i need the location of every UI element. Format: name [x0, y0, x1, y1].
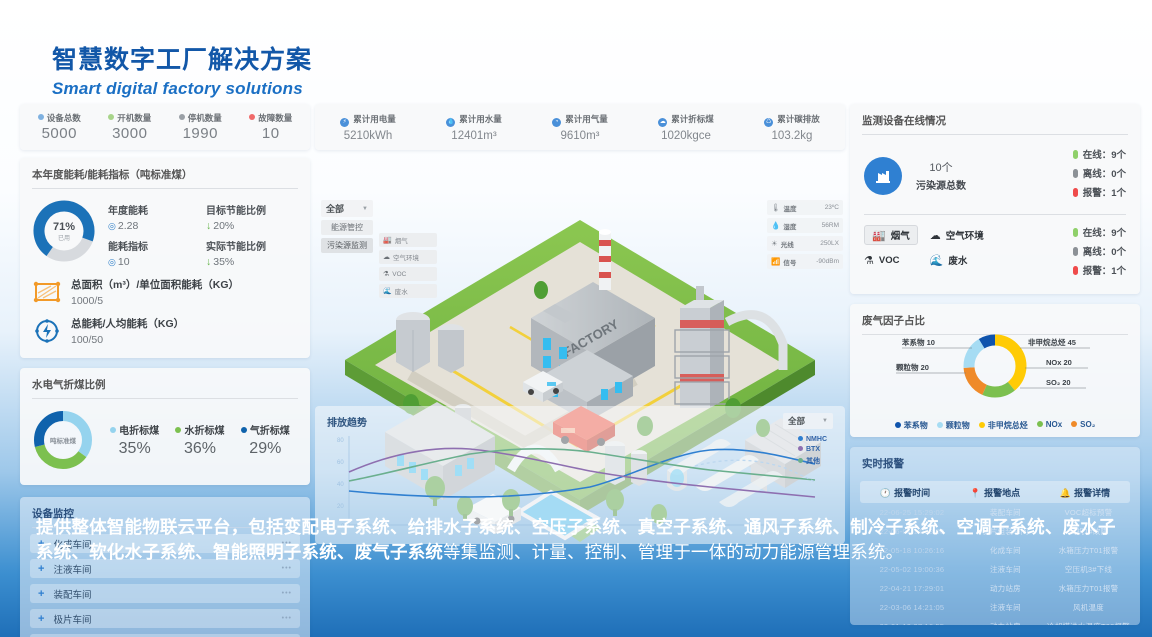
meter-icon: ◎ — [108, 257, 116, 267]
column-header-detail: 🔔报警详情 — [1040, 486, 1130, 499]
energy-item-target-saving: 目标节能比例 ↓20% — [206, 202, 298, 232]
kpi-fault-devices: 故障数量 10 — [236, 112, 307, 142]
energy-item-value: 35% — [213, 256, 234, 268]
status-pill — [1073, 228, 1078, 237]
water-icon: 💧 — [446, 118, 455, 127]
legend-label: 非甲烷总烃 — [988, 421, 1028, 430]
metric-total-area: 总面积（m³）/单位面积能耗（KG） 1000/5 — [20, 268, 310, 307]
down-arrow-icon: ↓ — [206, 256, 211, 268]
kpi-value: 5000 — [24, 125, 95, 142]
status-label: 在线：9个 — [1083, 150, 1126, 161]
ratio-item-electricity: 电折标煤 35% — [110, 422, 159, 458]
kpi-label: 设备总数 — [47, 113, 81, 123]
metric-label: 总面积（m³）/单位面积能耗（KG） — [71, 277, 239, 292]
overlay-caption: 提供整体智能物联云平台，包括变配电子系统、给排水子系统、空压子系统、真空子系统、… — [36, 515, 1126, 565]
legend-label: 其他 — [806, 458, 820, 465]
ratio-label: 水折标煤 — [184, 426, 224, 437]
filter-option-energy[interactable]: 能源管控 — [321, 220, 373, 235]
status-stats-top: 在线：9个 离线：0个 报警：1个 — [1073, 147, 1126, 204]
bolt-icon: ⚡ — [340, 118, 349, 127]
meter-icon: ◎ — [108, 221, 116, 231]
ratio-item-gas: 气折标煤 29% — [241, 422, 290, 458]
chevron-down-icon: ▼ — [362, 206, 368, 212]
expand-icon[interactable]: + — [38, 588, 44, 600]
sensor-value: -90dBm — [816, 258, 839, 265]
kpi-value: 3000 — [95, 125, 166, 142]
monitoring-online-card: 监测设备在线情况 10个 污染源总数 在线：9个 离线：0个 报警：1个 — [850, 104, 1140, 294]
column-label: 报警详情 — [1074, 488, 1110, 498]
metric-label: 总能耗/人均能耗（KG） — [71, 316, 184, 331]
status-stats-bottom: 在线：9个 离线：0个 报警：1个 — [1073, 225, 1126, 282]
kpi-total-devices: 设备总数 5000 — [24, 112, 95, 142]
legend-item-other: 其他 — [798, 456, 827, 466]
expand-icon[interactable]: + — [38, 613, 44, 625]
callout-benzene: 苯系物 10 — [901, 337, 935, 347]
acc-label: 累计用水量 — [459, 114, 502, 124]
gauge-percent: 71% — [53, 221, 75, 233]
submenu-label: VOC — [392, 271, 406, 278]
energy-gauge: 71% 已用 — [32, 199, 96, 263]
sensor-readouts: 🌡温度23ºC 💧湿度56RM ☀光线250LX 📶信号-90dBm — [767, 200, 843, 272]
sensor-value: 56RM — [822, 222, 839, 229]
status-alarm: 报警：1个 — [1073, 263, 1126, 277]
annual-energy-card: 本年度能耗/能耗指标（吨标准煤） 71% 已用 年度能耗 ◎2.28 — [20, 158, 310, 358]
list-item[interactable]: +极片车间••• — [30, 609, 300, 628]
acc-value: 12401m³ — [421, 130, 527, 142]
cloud-icon: ☁ — [930, 229, 941, 242]
kpi-value: 1990 — [165, 125, 236, 142]
trend-legend: NMHC BTX 其他 — [798, 436, 827, 469]
sensor-label: 湿度 — [783, 221, 821, 231]
ratio-value: 36% — [175, 440, 224, 458]
down-arrow-icon: ↓ — [206, 220, 211, 232]
card-title: 实时报警 — [850, 447, 1140, 477]
legend-label: 苯系物 — [904, 421, 928, 430]
legend-dot — [937, 422, 943, 428]
pollution-total-number: 10个 — [916, 159, 966, 175]
kpi-label: 故障数量 — [258, 113, 292, 123]
status-label: 报警：1个 — [1083, 188, 1126, 199]
energy-icon — [32, 316, 62, 346]
legend-label: NOx — [1046, 420, 1062, 429]
legend-item-particulate: 颗粒物 — [937, 420, 970, 431]
submenu-label: 废水 — [395, 286, 408, 296]
legend-dot — [241, 427, 247, 433]
carbon-icon: ♺ — [764, 118, 773, 127]
acc-carbon: ♺累计碳排放 103.2kg — [739, 113, 845, 142]
sensor-label: 信号 — [783, 257, 816, 267]
accumulator-strip: ⚡累计用电量 5210kWh 💧累计用水量 12401m³ ◔累计用气量 961… — [315, 104, 845, 150]
legend-dot — [1071, 421, 1077, 427]
card-title: 排放趋势 — [327, 414, 367, 429]
acc-label: 累计用电量 — [353, 114, 396, 124]
acc-electricity: ⚡累计用电量 5210kWh — [315, 113, 421, 142]
filter-option-pollution[interactable]: 污染源监测 — [321, 238, 373, 253]
alarm-table-header: 🕐报警时间 📍报警地点 🔔报警详情 — [860, 481, 1130, 503]
ratio-donut: 吨标准煤 — [32, 409, 94, 471]
sensor-temperature: 🌡温度23ºC — [767, 200, 843, 215]
pollution-total-label: 污染源总数 — [916, 177, 966, 192]
card-title: 本年度能耗/能耗指标（吨标准煤） — [20, 158, 310, 188]
svg-text:60: 60 — [337, 460, 344, 466]
alarm-time: 22-01-19 07:16:55 — [860, 622, 964, 625]
metric-total-energy: 总能耗/人均能耗（KG） 100/50 — [20, 307, 310, 346]
legend-label: BTX — [806, 446, 820, 453]
kpi-label: 开机数量 — [117, 113, 151, 123]
legend-label: NMHC — [806, 436, 827, 443]
sensor-humidity: 💧湿度56RM — [767, 218, 843, 233]
acc-gas: ◔累计用气量 9610m³ — [527, 113, 633, 142]
filter-select[interactable]: 全部 ▼ — [321, 200, 373, 217]
alarm-time: 22-03-06 14:21:05 — [860, 603, 964, 612]
filter-submenu: 🏭烟气 ☁空气环境 ⚗VOC 🌊废水 — [379, 233, 437, 301]
energy-item-label: 实际节能比例 — [206, 238, 298, 253]
alarm-time: 22-04-21 17:29:01 — [860, 584, 964, 593]
kpi-dot — [108, 114, 114, 120]
sensor-label: 光线 — [781, 239, 820, 249]
legend-dot — [895, 422, 901, 428]
tag-label: 废水 — [948, 253, 967, 267]
submenu-item-wastewater[interactable]: 🌊废水 — [379, 284, 437, 298]
acc-water: 💧累计用水量 12401m³ — [421, 113, 527, 142]
filter-selected-value: 全部 — [326, 202, 344, 215]
gas-icon: ◔ — [552, 118, 561, 127]
sensor-value: 250LX — [820, 240, 839, 247]
device-name: 装配车间 — [53, 587, 281, 601]
ratio-label: 气折标煤 — [250, 426, 290, 437]
legend-item-btx: BTX — [798, 446, 827, 453]
voc-icon: ⚗ — [864, 254, 874, 267]
column-header-place: 📍报警地点 — [950, 486, 1040, 499]
acc-value: 9610m³ — [527, 130, 633, 142]
status-offline: 离线：0个 — [1073, 244, 1126, 258]
table-row[interactable]: 22-03-06 14:21:05注液车间风机温度 — [860, 598, 1130, 617]
chevron-down-icon: ▼ — [822, 418, 828, 424]
submenu-item-air[interactable]: ☁空气环境 — [379, 250, 437, 264]
column-label: 报警时间 — [894, 488, 930, 498]
status-pill — [1073, 150, 1078, 159]
sensor-signal: 📶信号-90dBm — [767, 254, 843, 269]
scene-filter: 全部 ▼ 能源管控 污染源监测 🏭烟气 ☁空气环境 ⚗VOC 🌊废水 — [321, 200, 373, 253]
legend-label: 颗粒物 — [946, 421, 970, 430]
metric-value: 1000/5 — [71, 295, 239, 307]
ratio-value: 29% — [241, 440, 290, 458]
legend-dot — [798, 446, 803, 451]
column-label: 报警地点 — [984, 488, 1020, 498]
submenu-label: 空气环境 — [393, 252, 419, 262]
light-icon: ☀ — [771, 239, 778, 248]
page-title: 智慧数字工厂解决方案 — [52, 40, 312, 76]
ratio-label: 电折标煤 — [119, 426, 159, 437]
card-title: 水电气折煤比例 — [20, 368, 310, 398]
energy-item-label: 能耗指标 — [108, 238, 200, 253]
status-label: 报警：1个 — [1083, 266, 1126, 277]
alarm-time: 22-05-02 19:00:36 — [860, 565, 964, 574]
svg-text:40: 40 — [337, 482, 344, 488]
factory-scene-stage: 全部 ▼ 能源管控 污染源监测 🏭烟气 ☁空气环境 ⚗VOC 🌊废水 🌡温度23… — [315, 152, 845, 542]
waste-icon: 🌊 — [383, 287, 392, 295]
kpi-label: 停机数量 — [188, 113, 222, 123]
row-dots: ••• — [282, 590, 292, 597]
submenu-label: 烟气 — [395, 235, 408, 245]
kpi-dot — [38, 114, 44, 120]
row-dots: ••• — [282, 565, 292, 572]
clock-icon: 🕐 — [880, 488, 891, 498]
ratio-item-water: 水折标煤 36% — [175, 422, 224, 458]
pin-icon: 📍 — [970, 488, 981, 498]
energy-item-index: 能耗指标 ◎10 — [108, 238, 200, 268]
kpi-strip: 设备总数 5000 开机数量 3000 停机数量 1990 故障数量 10 — [20, 104, 310, 150]
waste-gas-legend: 苯系物 颗粒物 非甲烷总烃 NOx SO₂ — [850, 420, 1140, 431]
coal-ratio-card: 水电气折煤比例 吨标准煤 电折标煤 35% 水折标煤 36% — [20, 368, 310, 485]
overlay-thin-text: 等集监测、计量、控制、管理于一体的动力能源管理系统。 — [443, 542, 903, 562]
sensor-label: 温度 — [784, 203, 825, 213]
status-alarm: 报警：1个 — [1073, 185, 1126, 199]
legend-item-nmhc: NMHC — [798, 436, 827, 443]
svg-text:80: 80 — [337, 438, 344, 444]
tag-label: 烟气 — [891, 228, 910, 242]
signal-icon: 📶 — [771, 257, 780, 266]
table-row[interactable]: 22-04-21 17:29:01动力站房水箱压力T01报警 — [860, 579, 1130, 598]
trend-filter-value: 全部 — [788, 415, 805, 427]
ratio-value: 35% — [110, 440, 159, 458]
acc-value: 103.2kg — [739, 130, 845, 142]
coal-icon: ☁ — [658, 118, 667, 127]
device-name: 极片车间 — [53, 612, 281, 626]
energy-item-value: 20% — [213, 220, 234, 232]
status-pill — [1073, 247, 1078, 256]
tag-label: 空气环境 — [946, 228, 984, 242]
tag-smoke[interactable]: 🏭烟气 — [864, 225, 918, 245]
legend-item-benzene: 苯系物 — [895, 420, 928, 431]
gauge-sub: 已用 — [58, 233, 70, 242]
alarm-place: 注液车间 — [964, 564, 1047, 575]
kpi-value: 10 — [236, 125, 307, 142]
metric-value: 100/50 — [71, 334, 184, 346]
center-column: ⚡累计用电量 5210kWh 💧累计用水量 12401m³ ◔累计用气量 961… — [315, 104, 845, 542]
area-icon — [32, 277, 62, 307]
cloud-icon: ☁ — [383, 253, 390, 261]
submenu-item-smoke[interactable]: 🏭烟气 — [379, 233, 437, 247]
legend-dot — [175, 427, 181, 433]
status-pill — [1073, 266, 1078, 275]
energy-item-label: 年度能耗 — [108, 202, 200, 217]
tag-voc[interactable]: ⚗VOC — [864, 253, 918, 267]
legend-dot — [1037, 421, 1043, 427]
legend-dot — [979, 422, 985, 428]
status-pill — [1073, 169, 1078, 178]
waste-gas-factor-card: 废气因子占比 苯系物 10 颗粒物 20 非甲烷总烃 4 — [850, 304, 1140, 437]
waste-gas-donut-chart: 苯系物 10 颗粒物 20 非甲烷总烃 45 NOx 20 SO₂ 20 — [850, 326, 1140, 406]
energy-item-annual: 年度能耗 ◎2.28 — [108, 202, 200, 232]
acc-label: 累计碳排放 — [777, 114, 820, 124]
tag-wastewater[interactable]: 🌊废水 — [930, 253, 984, 267]
acc-label: 累计折标煤 — [671, 114, 714, 124]
voc-icon: ⚗ — [383, 270, 389, 278]
pollution-type-tags: 🏭烟气 ☁空气环境 ⚗VOC 🌊废水 — [864, 225, 984, 267]
table-row[interactable]: 22-01-19 07:16:55动力站房冷却塔进水温度T03报警 — [860, 617, 1130, 625]
kpi-running-devices: 开机数量 3000 — [95, 112, 166, 142]
alarm-detail: 水箱压力T01报警 — [1047, 583, 1130, 594]
legend-dot — [110, 427, 116, 433]
smoke-icon: 🏭 — [872, 229, 886, 242]
submenu-item-voc[interactable]: ⚗VOC — [379, 267, 437, 281]
legend-item-nox: NOx — [1037, 420, 1062, 431]
alarm-detail: 风机温度 — [1047, 602, 1130, 613]
waste-icon: 🌊 — [930, 254, 944, 267]
kpi-dot — [249, 114, 255, 120]
alarm-detail: 冷却塔进水温度T03报警 — [1047, 621, 1130, 625]
legend-dot — [798, 458, 803, 463]
status-offline: 离线：0个 — [1073, 166, 1126, 180]
list-item[interactable]: +装配车间••• — [30, 584, 300, 603]
legend-item-nmhc: 非甲烷总烃 — [979, 420, 1028, 431]
status-online: 在线：9个 — [1073, 225, 1126, 239]
card-title: 监测设备在线情况 — [850, 104, 1140, 134]
humidity-icon: 💧 — [771, 221, 780, 230]
acc-value: 5210kWh — [315, 130, 421, 142]
callout-nox: NOx 20 — [1046, 358, 1072, 367]
pollution-source-icon — [864, 157, 902, 195]
smoke-icon: 🏭 — [383, 236, 392, 244]
tag-label: VOC — [879, 255, 900, 266]
page-subtitle: Smart digital factory solutions — [52, 79, 312, 99]
ratio-center-label: 吨标准煤 — [50, 435, 76, 445]
alarm-detail: 空压机3#下线 — [1047, 564, 1130, 575]
legend-label: SO₂ — [1080, 420, 1095, 429]
kpi-dot — [179, 114, 185, 120]
alarm-place: 动力站房 — [964, 621, 1047, 625]
kpi-stopped-devices: 停机数量 1990 — [165, 112, 236, 142]
status-label: 离线：0个 — [1083, 169, 1126, 180]
thermometer-icon: 🌡 — [771, 203, 781, 212]
column-header-time: 🕐报警时间 — [860, 486, 950, 499]
callout-nmhc: 非甲烷总烃 45 — [1028, 337, 1076, 347]
status-online: 在线：9个 — [1073, 147, 1126, 161]
energy-item-label: 目标节能比例 — [206, 202, 298, 217]
status-label: 离线：0个 — [1083, 247, 1126, 258]
energy-item-value: 2.28 — [118, 220, 138, 232]
energy-item-value: 10 — [118, 256, 130, 268]
acc-label: 累计用气量 — [565, 114, 608, 124]
callout-so2: SO₂ 20 — [1046, 378, 1071, 387]
energy-item-actual-saving: 实际节能比例 ↓35% — [206, 238, 298, 268]
trend-filter-select[interactable]: 全部 ▼ — [783, 413, 833, 429]
tag-air[interactable]: ☁空气环境 — [930, 225, 984, 245]
acc-value: 1020kgce — [633, 130, 739, 142]
alarm-place: 注液车间 — [964, 602, 1047, 613]
callout-particulate: 颗粒物 20 — [896, 362, 929, 372]
row-dots: ••• — [282, 615, 292, 622]
page-header: 智慧数字工厂解决方案 Smart digital factory solutio… — [52, 40, 312, 99]
svg-text:20: 20 — [337, 504, 344, 510]
alarm-place: 动力站房 — [964, 583, 1047, 594]
sensor-light: ☀光线250LX — [767, 236, 843, 251]
status-pill — [1073, 188, 1078, 197]
status-label: 在线：9个 — [1083, 228, 1126, 239]
acc-coal: ☁累计折标煤 1020kgce — [633, 113, 739, 142]
legend-dot — [798, 436, 803, 441]
sensor-value: 23ºC — [825, 204, 839, 211]
alarm-icon: 🔔 — [1060, 488, 1071, 498]
legend-item-so2: SO₂ — [1071, 420, 1095, 431]
